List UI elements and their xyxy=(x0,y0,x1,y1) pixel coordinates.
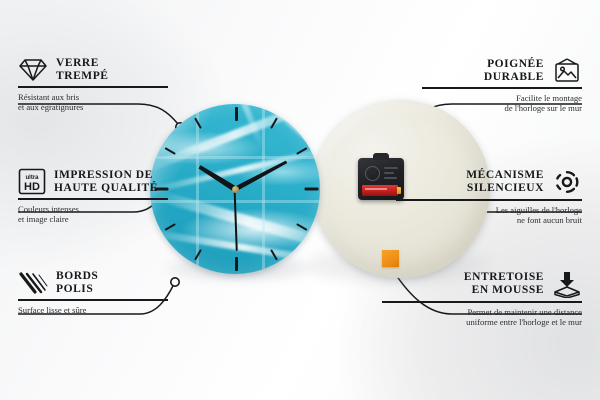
gear-icon xyxy=(552,168,582,196)
feature-bords-polis: BORDS POLIS Surface lisse et sûre xyxy=(18,270,168,315)
feature-title: IMPRESSION DE HAUTE QUALITÉ xyxy=(54,169,158,194)
feature-desc-line2: uniforme entre l'horloge et le mur xyxy=(382,317,582,327)
battery xyxy=(362,185,398,196)
ultra-hd-icon: ultra HD xyxy=(18,168,46,195)
picture-hanger-icon xyxy=(552,57,582,84)
feature-entretoise-en-mousse: ENTRETOISE EN MOUSSE Permet de maintenir… xyxy=(382,270,582,327)
mechanism-hanger-tab xyxy=(373,153,389,160)
infographic-canvas: VERRE TREMPÉ Résistant aux bris et aux é… xyxy=(0,0,600,400)
foam-spacer xyxy=(382,250,399,267)
feature-desc-line1: Couleurs intenses xyxy=(18,204,168,214)
feature-desc-line1: Facilite le montage xyxy=(422,93,582,103)
hour-tick xyxy=(235,257,238,271)
title-rule xyxy=(382,301,582,303)
foam-spacer-icon xyxy=(552,270,582,298)
hands-center-cap xyxy=(232,186,239,193)
feature-impression-haute-qualite: ultra HD IMPRESSION DE HAUTE QUALITÉ Cou… xyxy=(18,168,168,224)
diamond-icon xyxy=(18,57,48,83)
feature-title: BORDS POLIS xyxy=(56,270,98,295)
face-grid-line xyxy=(196,104,199,274)
hour-tick xyxy=(164,223,175,231)
feature-desc-line2: ne font aucun bruit xyxy=(396,215,582,225)
polished-edges-icon xyxy=(18,270,48,296)
feature-poignee-durable: POIGNÉE DURABLE Facilite le montage de l… xyxy=(422,57,582,113)
battery-stripe xyxy=(365,188,387,190)
feature-desc-line2: et image claire xyxy=(18,214,168,224)
feature-desc-line2: et aux égratignures xyxy=(18,102,168,112)
feature-head: VERRE TREMPÉ xyxy=(18,57,168,83)
clock-front-face xyxy=(150,104,320,274)
feature-head: MÉCANISME SILENCIEUX xyxy=(396,168,582,196)
feature-head: BORDS POLIS xyxy=(18,270,168,296)
hour-tick xyxy=(235,107,238,121)
feature-head: ultra HD IMPRESSION DE HAUTE QUALITÉ xyxy=(18,168,168,195)
feature-head: ENTRETOISE EN MOUSSE xyxy=(382,270,582,298)
feature-desc-line1: Surface lisse et sûre xyxy=(18,305,168,315)
face-grid-line xyxy=(262,104,265,274)
feature-title: MÉCANISME SILENCIEUX xyxy=(466,169,544,194)
feature-title: ENTRETOISE EN MOUSSE xyxy=(464,271,544,296)
feature-desc-line1: Les aiguilles de l'horloge xyxy=(396,205,582,215)
title-rule xyxy=(18,86,168,88)
feature-verre-trempe: VERRE TREMPÉ Résistant aux bris et aux é… xyxy=(18,57,168,112)
feature-desc-line1: Permet de maintenir une distance xyxy=(382,307,582,317)
feature-mecanisme-silencieux: MÉCANISME SILENCIEUX Les aiguilles de l'… xyxy=(396,168,582,225)
title-rule xyxy=(396,199,582,201)
face-grid-line xyxy=(150,156,320,159)
title-rule xyxy=(18,198,168,200)
mechanism-dial xyxy=(365,166,380,181)
feature-head: POIGNÉE DURABLE xyxy=(422,57,582,84)
hour-tick xyxy=(305,188,319,191)
feature-desc-line1: Résistant aux bris xyxy=(18,92,168,102)
mechanism-detail-line xyxy=(384,172,394,174)
svg-text:HD: HD xyxy=(24,181,40,193)
feature-title: POIGNÉE DURABLE xyxy=(484,58,544,83)
feature-title: VERRE TREMPÉ xyxy=(56,57,109,82)
title-rule xyxy=(422,87,582,89)
feature-desc-line2: de l'horloge sur le mur xyxy=(422,103,582,113)
title-rule xyxy=(18,299,168,301)
